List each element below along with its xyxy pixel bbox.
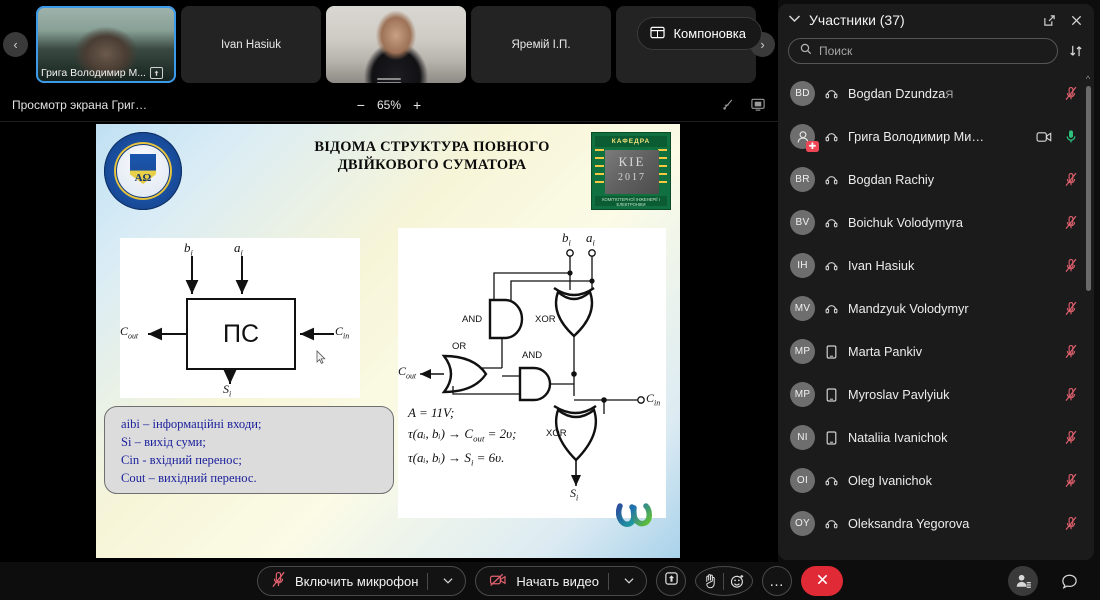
participant-status-icons [1036,129,1078,144]
avatar: ✚ [790,124,815,149]
camera-icon [1036,131,1052,143]
participant-status-icons [1064,344,1078,359]
screen-select-icon[interactable] [750,97,766,112]
close-icon [816,573,829,590]
formula-line-2: τ(aᵢ, bᵢ) → Cout = 2υ; [408,423,516,446]
avatar: MV [790,296,815,321]
gate-label-cin: Cin [646,391,660,407]
more-options-icon: … [769,577,785,586]
participant-name-block: Oleksandra Yegorova [848,517,1055,531]
microphone-options-caret[interactable] [437,576,459,587]
participant-name-block: Myroslav Pavlyiuk [848,388,1055,402]
participant-status-icons [1064,430,1078,445]
chevron-down-icon[interactable] [788,14,801,26]
participant-row[interactable]: BVBoichuk Volodymyra [778,201,1094,244]
participant-row[interactable]: BDBogdan DzundzaЯ [778,72,1094,115]
participant-name-block: Bogdan DzundzaЯ [848,87,1055,101]
phone-device-icon [824,388,839,402]
slide-title: ВІДОМА СТРУКТУРА ПОВНОГО ДВІЙКОВОГО СУМА… [282,138,582,174]
search-icon [800,42,812,60]
unmute-microphone-button[interactable]: Включить микрофон [257,566,466,596]
label-sum-out: Si [223,382,231,398]
presentation-slide[interactable]: АΩ ВІДОМА СТРУКТУРА ПОВНОГО ДВІЙКОВОГО С… [96,124,680,558]
headset-device-icon [824,474,839,487]
microphone-unmuted-icon[interactable] [1064,129,1078,144]
layout-button-label: Компоновка [673,26,746,41]
slide-legend-box: aibi – інформаційні входи; Si – вихід су… [104,406,394,494]
microphone-muted-icon[interactable] [1064,387,1078,402]
participant-name-block: Marta Pankiv [848,345,1055,359]
legend-line-2: Cin - вхідний перенос; [121,452,393,470]
scroll-up-arrow[interactable]: ^ [1084,74,1092,84]
kie-year: 2017 [605,172,659,183]
end-call-button[interactable] [801,566,843,596]
microphone-muted-icon[interactable] [1064,86,1078,101]
unmute-microphone-label: Включить микрофон [295,574,418,589]
gate-label-and-2: AND [522,350,542,361]
participants-icon[interactable] [1008,566,1038,596]
label-cout: Cout [120,324,138,340]
kie-name: КІЕ [605,154,659,170]
layout-icon [650,25,665,42]
webex-meeting-window: ‹ › Грига Володимир М... Ivan Hasiuk [0,0,1100,600]
participant-name-block: Boichuk Volodymyra [848,216,1055,230]
kie-footer: КОМП'ЮТЕРНОЇ ІНЖЕНЕРІЇ І ЕЛЕКТРОНІКИ [595,196,667,206]
participants-scrollbar[interactable]: ^ ˅ [1085,76,1091,560]
participant-status-icons [1064,301,1078,316]
video-tile-0-label: Грига Володимир М... [41,67,146,79]
participant-row[interactable]: ✚Грига Володимир Ми… [778,115,1094,158]
shared-content-stage: АΩ ВІДОМА СТРУКТУРА ПОВНОГО ДВІЙКОВОГО С… [0,122,778,562]
participant-name-block: Nataliia Ivanichok [848,431,1055,445]
participant-status-icons [1064,86,1078,101]
raise-hand-icon[interactable] [698,573,723,589]
block-ps: ПС [186,298,296,370]
headset-device-icon [824,130,839,143]
gate-label-b: bi [562,230,571,248]
mouse-cursor [316,350,327,370]
microphone-muted-icon[interactable] [1064,301,1078,316]
participants-panel-header: Участники (37) [778,4,1094,36]
video-tile-0-name-bar: Грига Володимир М... [41,67,171,79]
gate-label-or: OR [452,341,466,352]
participant-name: Oleksandra Yegorova [848,517,969,531]
zoom-controls: − 65% + [355,98,423,112]
university-seal-logo: АΩ [104,132,182,210]
microphone-muted-icon [271,571,286,591]
screen-share-icon [150,67,163,79]
formula-line-1: A = 11V; [408,402,516,423]
formula-line-3: τ(aᵢ, bᵢ) → Si = 6υ. [408,447,516,470]
gate-label-a: ai [586,230,595,248]
participant-name: Bogdan Rachiy [848,173,934,187]
participant-name: Myroslav Pavlyiuk [848,388,950,402]
kie-chip: КІЕ 2017 [605,150,659,194]
reactions-icon[interactable] [724,574,751,589]
participant-name: Oleg Ivanichok [848,474,932,488]
phone-device-icon [824,345,839,359]
webex-watermark-logo [616,500,658,530]
sort-icon[interactable] [1066,42,1086,60]
legend-line-1: Si – вихід суми; [121,434,393,452]
video-tile-1-label: Ivan Hasiuk [181,39,321,51]
main-stage-area: ‹ › Грига Володимир М... Ivan Hasiuk [0,0,778,600]
participant-name-block: Грига Володимир Ми… [848,130,1027,144]
headset-device-icon [824,517,839,530]
label-input-a: ai [234,240,243,258]
divider [608,573,609,590]
legend-line-3: Cout – вихідний перенос. [121,470,393,488]
camera-off-icon [489,573,507,590]
participant-row[interactable]: OYOleksandra Yegorova [778,502,1094,545]
kie-department-logo: КАФЕДРА КІЕ 2017 КОМП'ЮТЕРНОЇ ІНЖЕ [591,132,671,210]
layout-button[interactable]: Компоновка [637,17,762,50]
participant-status-icons [1064,258,1078,273]
headset-device-icon [824,216,839,229]
scroll-down-arrow[interactable]: ˅ [1084,558,1092,560]
participant-name-block: Oleg Ivanichok [848,474,1055,488]
avatar: MP [790,339,815,364]
share-screen-button[interactable] [656,566,686,596]
video-options-caret[interactable] [618,576,640,587]
microphone-muted-icon[interactable] [1064,473,1078,488]
divider [427,573,428,590]
zoom-level-label: 65% [377,98,401,112]
participant-status-icons [1064,516,1078,531]
pop-out-icon[interactable] [1040,11,1059,30]
zoom-out-button[interactable]: − [355,98,367,112]
headset-device-icon [824,302,839,315]
participant-status-icons [1064,473,1078,488]
close-icon[interactable] [1067,11,1086,30]
avatar: BD [790,81,815,106]
participant-row[interactable]: MPMyroslav Pavlyiuk [778,373,1094,416]
search-input[interactable] [819,44,1046,58]
participant-row[interactable]: OIOleg Ivanichok [778,459,1094,502]
annotate-icon[interactable] [721,97,736,112]
gate-diagram-panel: bi ai AND XOR OR AND XOR Cout Cin [398,228,666,518]
search-box[interactable] [788,38,1058,64]
right-controls-group [1008,566,1084,596]
microphone-muted-icon[interactable] [1064,344,1078,359]
headset-device-icon [824,173,839,186]
reactions-button-group[interactable] [695,566,753,596]
video-filmstrip: ‹ › Грига Володимир М... Ivan Hasiuk [0,0,778,88]
start-video-label: Начать видео [516,574,599,589]
filmstrip-prev-button[interactable]: ‹ [3,32,28,57]
microphone-muted-icon[interactable] [1064,172,1078,187]
screen-share-toolbar: Просмотр экрана Григ… − 65% + [0,88,778,122]
gate-label-xor-1: XOR [535,314,556,325]
participants-search-row [778,36,1094,72]
filmstrip-resize-handle[interactable] [377,78,401,85]
share-toolbar-actions [721,97,766,112]
avatar: BV [790,210,815,235]
avatar: OI [790,468,815,493]
participant-row[interactable]: MVMandzyuk Volodymyr [778,287,1094,330]
participant-row[interactable]: MPMarta Pankiv [778,330,1094,373]
share-status-label: Просмотр экрана Григ… [12,98,147,112]
participant-name-block: Ivan Hasiuk [848,259,1055,273]
participant-status-icons [1064,172,1078,187]
participant-row[interactable]: BRBogdan Rachiy [778,158,1094,201]
start-video-button[interactable]: Начать видео [475,566,647,596]
participants-panel: Участники (37) [778,4,1094,560]
scrollbar-thumb[interactable] [1086,86,1091,291]
video-tile-1[interactable]: Ivan Hasiuk [181,6,321,83]
microphone-muted-icon[interactable] [1064,430,1078,445]
video-tile-2[interactable] [326,6,466,83]
microphone-muted-icon[interactable] [1064,516,1078,531]
participant-name: Mandzyuk Volodymyr [848,302,969,316]
video-tile-3[interactable]: Яремій І.П. [471,6,611,83]
more-options-button[interactable]: … [762,566,792,596]
participant-row[interactable]: IHIvan Hasiuk [778,244,1094,287]
share-screen-icon [664,571,679,591]
seal-monogram: АΩ [104,172,182,184]
participant-name: Marta Pankiv [848,345,922,359]
participant-name: Boichuk Volodymyra [848,216,963,230]
slide-formulas: A = 11V; τ(aᵢ, bᵢ) → Cout = 2υ; τ(aᵢ, bᵢ… [408,402,516,470]
avatar: NI [790,425,815,450]
participants-panel-title: Участники (37) [809,12,1032,28]
meeting-controls-bar: Включить микрофон Начать видео [0,562,1100,600]
participant-name-block: Mandzyuk Volodymyr [848,302,1055,316]
gate-label-and-1: AND [462,314,482,325]
participant-subtitle: Я [945,89,953,101]
participant-status-icons [1064,215,1078,230]
headset-device-icon [824,259,839,272]
host-badge-icon: ✚ [806,141,819,152]
video-tile-3-label: Яремій І.П. [471,39,611,51]
avatar: OY [790,511,815,536]
label-cin: Cin [335,324,349,340]
phone-device-icon [824,431,839,445]
block-diagram-panel: ПС bi ai Cout Cin Si [120,238,360,398]
participant-name-block: Bogdan Rachiy [848,173,1055,187]
headset-device-icon [824,87,839,100]
participant-row[interactable]: NINataliia Ivanichok [778,416,1094,459]
microphone-muted-icon[interactable] [1064,258,1078,273]
participant-name: Bogdan Dzundza [848,87,945,101]
participants-list[interactable]: BDBogdan DzundzaЯ✚Грига Володимир Ми…BRB… [778,72,1094,560]
chat-icon[interactable] [1054,566,1084,596]
participant-name: Ivan Hasiuk [848,259,914,273]
gate-label-s: Si [570,486,578,502]
video-tile-0[interactable]: Грига Володимир М... [36,6,176,83]
microphone-muted-icon[interactable] [1064,215,1078,230]
label-input-b: bi [184,240,193,258]
avatar: BR [790,167,815,192]
participant-name: Nataliia Ivanichok [848,431,947,445]
gate-label-cout: Cout [398,364,416,380]
kie-header: КАФЕДРА [595,136,667,147]
participant-status-icons [1064,387,1078,402]
participant-name: Грига Володимир Ми… [848,130,984,144]
avatar: MP [790,382,815,407]
gate-label-xor-2: XOR [546,428,567,439]
legend-line-0: aibi – інформаційні входи; [121,416,393,434]
avatar: IH [790,253,815,278]
zoom-in-button[interactable]: + [411,98,423,112]
